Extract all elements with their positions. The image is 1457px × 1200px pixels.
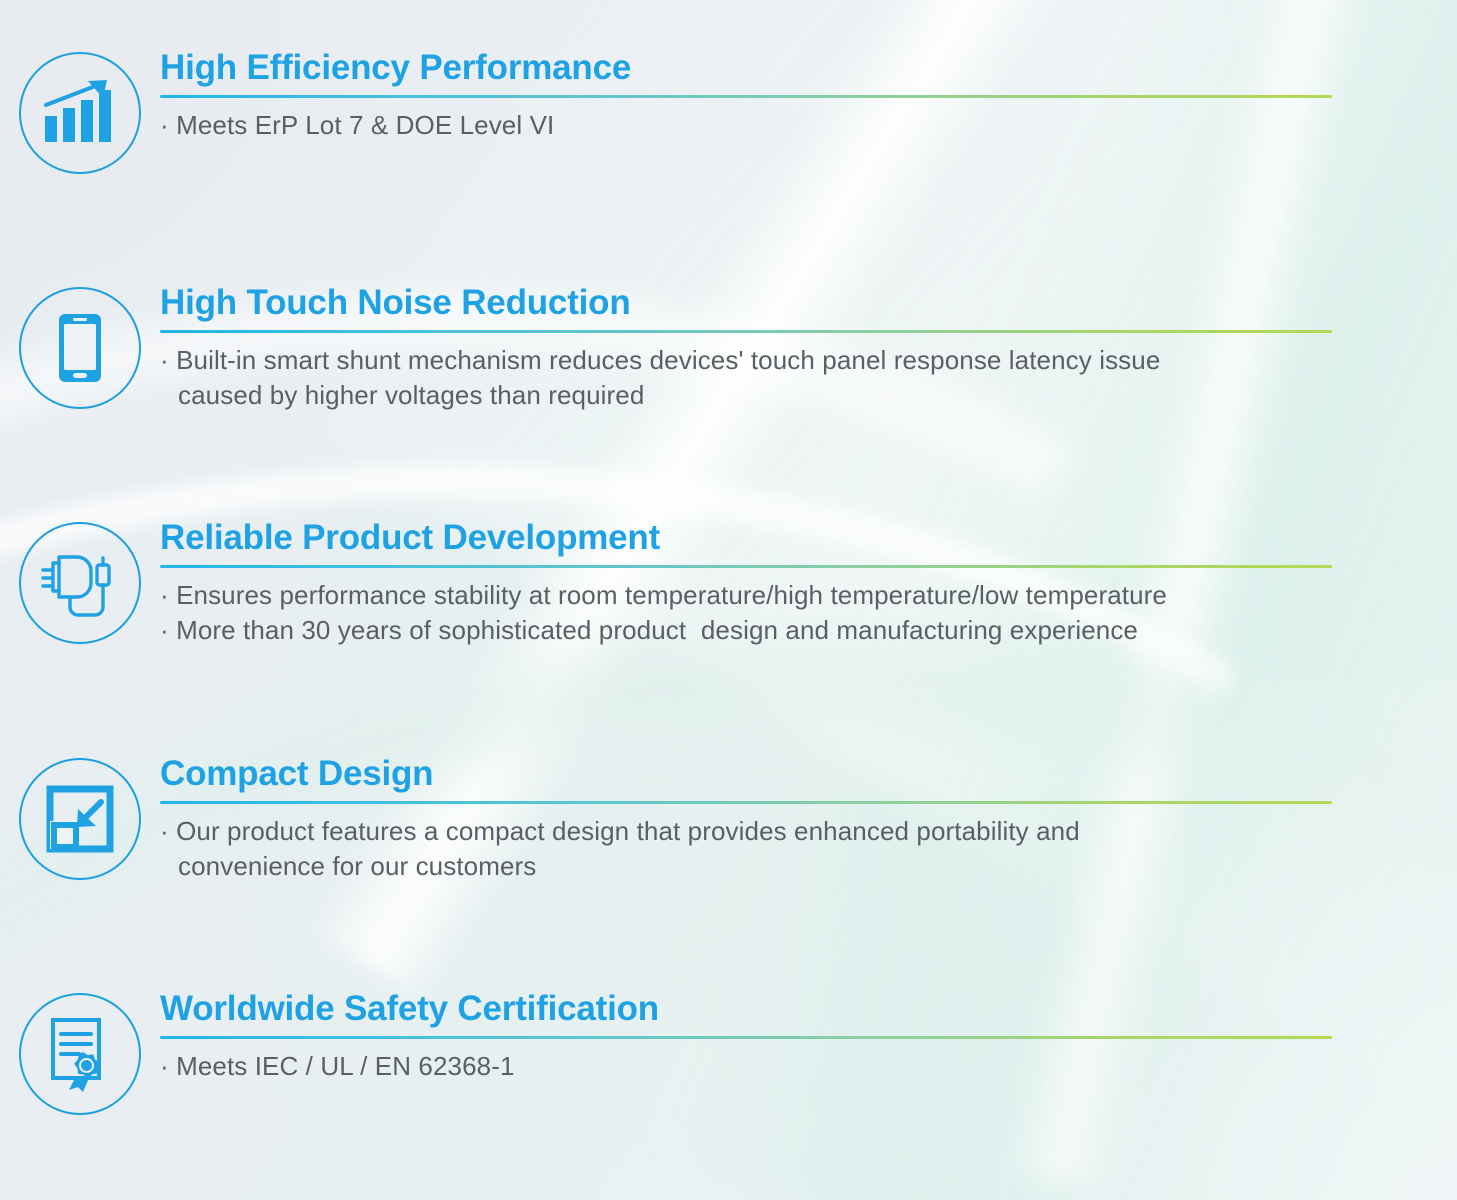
feature-divider (160, 1036, 1332, 1039)
feature-body: High Efficiency Performance · Meets ErP … (160, 48, 1457, 143)
feature-icon-wrap (0, 518, 160, 644)
certificate-award-icon (19, 993, 141, 1115)
feature-description: · Our product features a compact design … (160, 814, 1385, 886)
compact-resize-icon (19, 758, 141, 880)
feature-icon-wrap (0, 48, 160, 174)
feature-list: High Efficiency Performance · Meets ErP … (0, 0, 1457, 1200)
smartphone-icon (19, 287, 141, 409)
feature-description: · Meets IEC / UL / EN 62368-1 (160, 1049, 1385, 1085)
feature-body: Reliable Product Development · Ensures p… (160, 518, 1457, 649)
feature-item: Reliable Product Development · Ensures p… (0, 518, 1457, 649)
description-line: · Ensures performance stability at room … (160, 578, 1385, 614)
feature-icon-wrap (0, 283, 160, 409)
feature-title: High Efficiency Performance (160, 48, 1385, 89)
feature-divider (160, 801, 1332, 804)
description-line: convenience for our customers (160, 849, 1385, 885)
feature-item: High Touch Noise Reduction · Built-in sm… (0, 283, 1457, 414)
power-adapter-icon (19, 522, 141, 644)
feature-item: Worldwide Safety Certification · Meets I… (0, 989, 1457, 1115)
feature-body: High Touch Noise Reduction · Built-in sm… (160, 283, 1457, 414)
description-line: · Built-in smart shunt mechanism reduces… (160, 343, 1385, 379)
feature-divider (160, 330, 1332, 333)
description-line: caused by higher voltages than required (160, 378, 1385, 414)
feature-body: Worldwide Safety Certification · Meets I… (160, 989, 1457, 1084)
feature-title: Compact Design (160, 754, 1385, 795)
feature-item: Compact Design · Our product features a … (0, 754, 1457, 885)
feature-title: High Touch Noise Reduction (160, 283, 1385, 324)
description-line: · Our product features a compact design … (160, 814, 1385, 850)
feature-body: Compact Design · Our product features a … (160, 754, 1457, 885)
feature-divider (160, 565, 1332, 568)
feature-description: · Ensures performance stability at room … (160, 578, 1385, 650)
feature-title: Reliable Product Development (160, 518, 1385, 559)
description-line: · Meets ErP Lot 7 & DOE Level VI (160, 108, 1385, 144)
bar-chart-growth-icon (19, 52, 141, 174)
feature-title: Worldwide Safety Certification (160, 989, 1385, 1030)
feature-icon-wrap (0, 754, 160, 880)
description-line: · More than 30 years of sophisticated pr… (160, 613, 1385, 649)
feature-icon-wrap (0, 989, 160, 1115)
description-line: · Meets IEC / UL / EN 62368-1 (160, 1049, 1385, 1085)
feature-description: · Built-in smart shunt mechanism reduces… (160, 343, 1385, 415)
feature-description: · Meets ErP Lot 7 & DOE Level VI (160, 108, 1385, 144)
feature-divider (160, 95, 1332, 98)
feature-item: High Efficiency Performance · Meets ErP … (0, 48, 1457, 174)
